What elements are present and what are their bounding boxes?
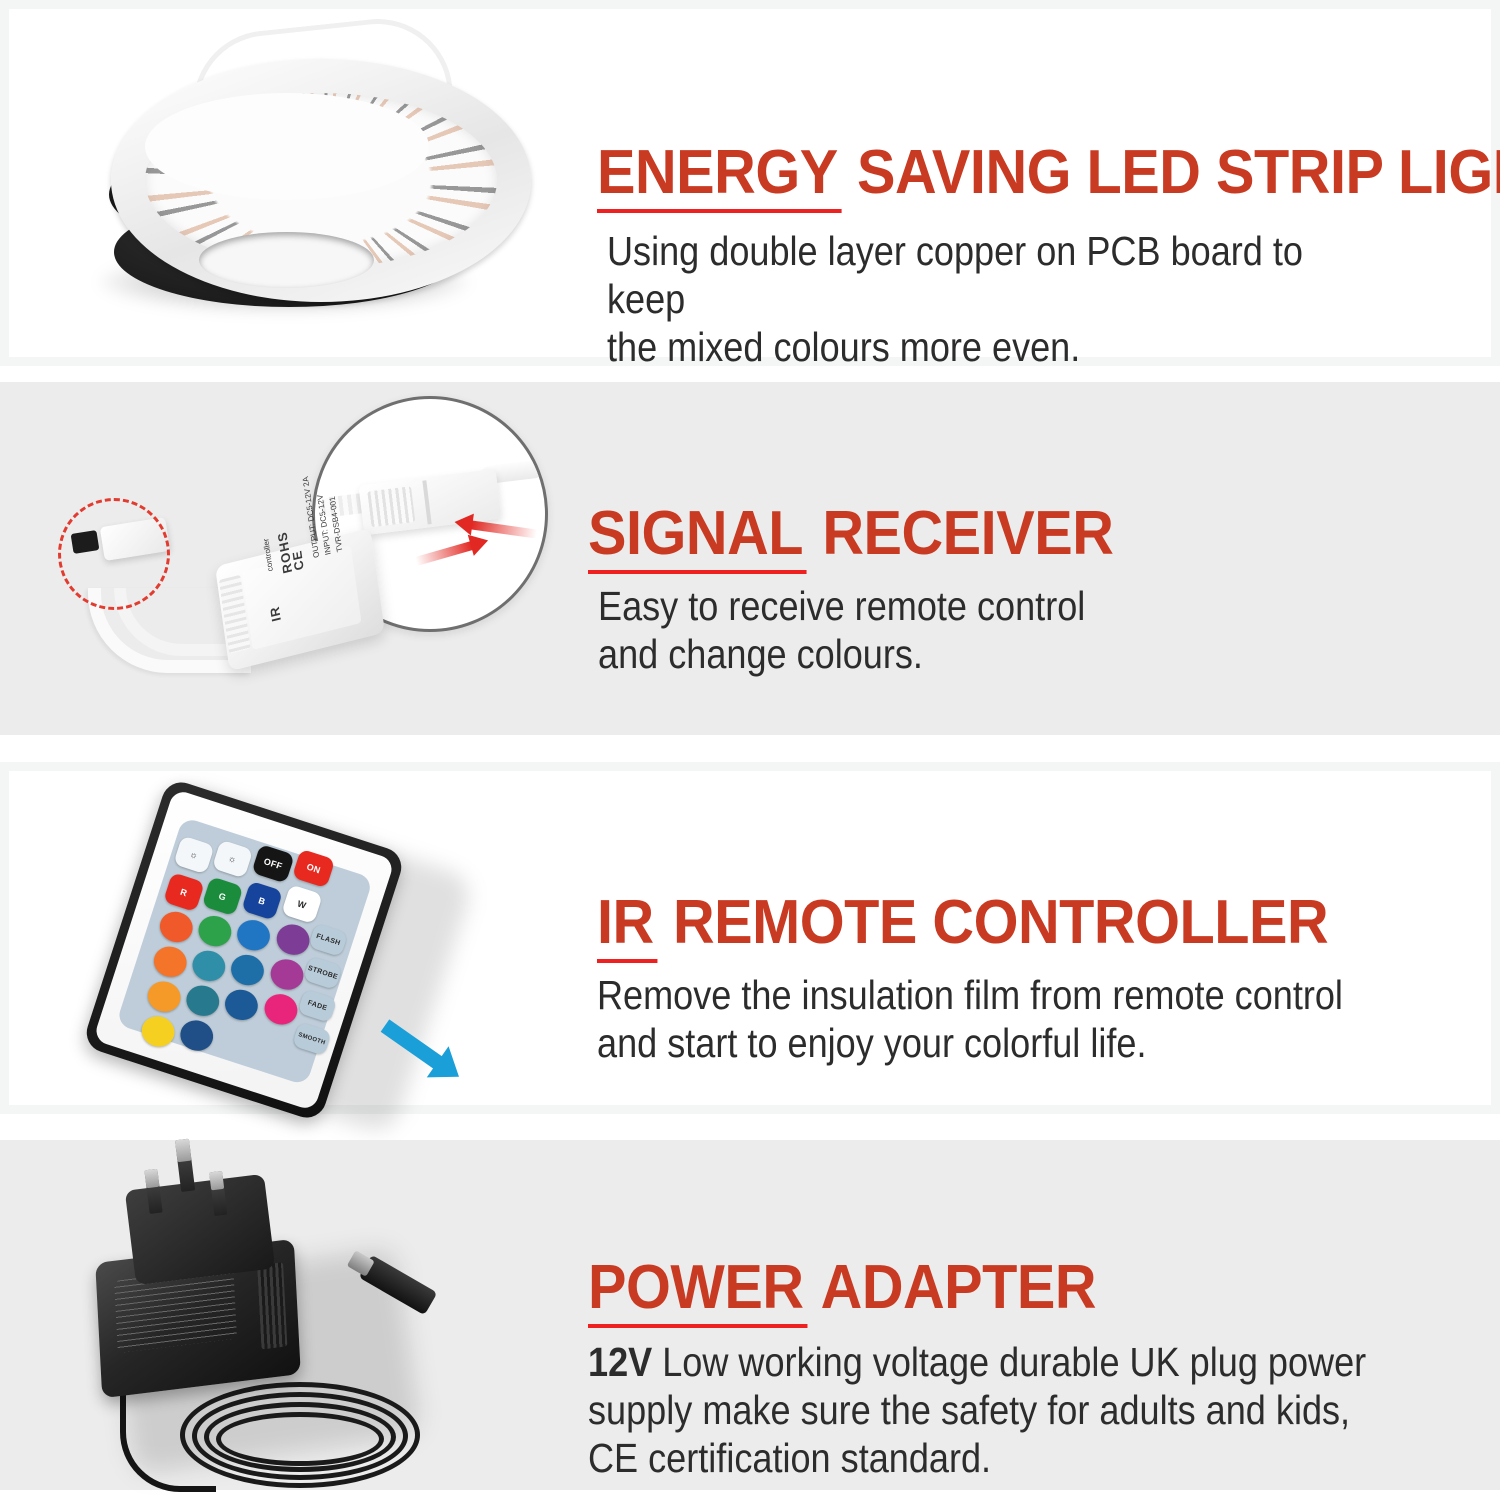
uk-plug-head — [125, 1174, 276, 1285]
heading-underlined-word: SIGNAL — [588, 499, 807, 574]
cable-coil — [216, 1412, 384, 1466]
body-power-adapter: 12V Low working voltage durable UK plug … — [588, 1339, 1366, 1483]
copy-ir-remote-controller: IR REMOTE CONTROLLER Remove the insulati… — [569, 771, 1491, 1105]
body-ir-remote-controller: Remove the insulation film from remote c… — [597, 972, 1343, 1068]
coil-inner-gap — [145, 93, 429, 200]
remote-key-red-label: R — [179, 886, 189, 898]
sun-up-icon: ☼ — [227, 853, 238, 865]
led-strip-reel-photo — [9, 9, 569, 357]
heading-energy-saving: ENERGY SAVING LED STRIP LIGHT — [597, 142, 1500, 204]
connector-highlight-circle — [58, 498, 170, 610]
copy-signal-receiver: SIGNAL RECEIVER Easy to receive remote c… — [560, 382, 1500, 735]
heading-power-adapter: POWER ADAPTER — [588, 1257, 1096, 1319]
copy-power-adapter: POWER ADAPTER 12V Low working voltage du… — [560, 1140, 1500, 1490]
heading-rest: SAVING LED STRIP LIGHT — [841, 138, 1500, 207]
remote-key-strobe-label: STROBE — [307, 965, 339, 981]
remote-key-flash-label: FLASH — [315, 933, 341, 947]
controller-box: TVR-DSB4-001 INPUT: DC5-12V OUTPUT: DC5-… — [215, 528, 385, 671]
heading-rest: ADAPTER — [807, 1253, 1096, 1322]
ir-mark-label: IR — [267, 605, 284, 624]
heading-underlined-word: POWER — [588, 1253, 807, 1328]
infographic-page: ENERGY SAVING LED STRIP LIGHT Using doub… — [0, 0, 1500, 1500]
remote-key-fade-label: FADE — [307, 999, 328, 1012]
heading-rest: REMOTE CONTROLLER — [657, 888, 1328, 957]
remote-key-off-label: OFF — [263, 856, 284, 871]
body-energy-saving: Using double layer copper on PCB board t… — [607, 228, 1385, 372]
plug-pin-neutral-tip — [209, 1171, 224, 1190]
uk-plug-power-adapter-photo — [0, 1140, 560, 1490]
plug-pin-live-tip — [144, 1169, 159, 1188]
heading-rest: RECEIVER — [807, 499, 1114, 568]
body-signal-receiver: Easy to receive remote control and chang… — [598, 583, 1085, 679]
controller-label-face: TVR-DSB4-001 INPUT: DC5-12V OUTPUT: DC5-… — [242, 545, 362, 650]
spool-center-hole — [199, 232, 374, 288]
rohs-mark-label: ROHS — [275, 530, 295, 575]
remote-key-green-label: G — [218, 890, 228, 902]
connector-seam — [422, 480, 431, 524]
copy-energy-saving: ENERGY SAVING LED STRIP LIGHT Using doub… — [569, 9, 1491, 357]
remote-key-on-label: ON — [305, 862, 322, 876]
section-energy-saving: ENERGY SAVING LED STRIP LIGHT Using doub… — [0, 0, 1500, 366]
heading-ir-remote-controller: IR REMOTE CONTROLLER — [597, 892, 1328, 954]
body-power-adapter-text: Low working voltage durable UK plug powe… — [588, 1339, 1366, 1481]
adapter-vents — [257, 1262, 287, 1349]
remote-key-smooth-label: SMOOTH — [298, 1032, 327, 1046]
ir-controller-box-photo: TVR-DSB4-001 INPUT: DC5-12V OUTPUT: DC5-… — [0, 382, 560, 735]
heading-underlined-word: IR — [597, 888, 657, 963]
heading-underlined-word: ENERGY — [597, 138, 841, 213]
plug-pin-earth-tip — [175, 1139, 192, 1163]
section-ir-remote-controller: ☼ ☼ OFF ON — [0, 762, 1500, 1114]
body-bold-voltage: 12V — [588, 1339, 652, 1385]
heading-signal-receiver: SIGNAL RECEIVER — [588, 503, 1113, 565]
remote-key-blue-label: B — [257, 895, 267, 907]
section-signal-receiver: TVR-DSB4-001 INPUT: DC5-12V OUTPUT: DC5-… — [0, 382, 1500, 735]
red-arrow-pointing-right-icon — [415, 541, 473, 566]
section-power-adapter: POWER ADAPTER 12V Low working voltage du… — [0, 1140, 1500, 1490]
connector-ridges — [367, 486, 415, 527]
ir-remote-photo: ☼ ☼ OFF ON — [9, 771, 569, 1105]
controller-word-label: controller — [261, 537, 274, 572]
sun-down-icon: ☼ — [188, 849, 199, 861]
remote-key-white-label: W — [296, 898, 307, 910]
